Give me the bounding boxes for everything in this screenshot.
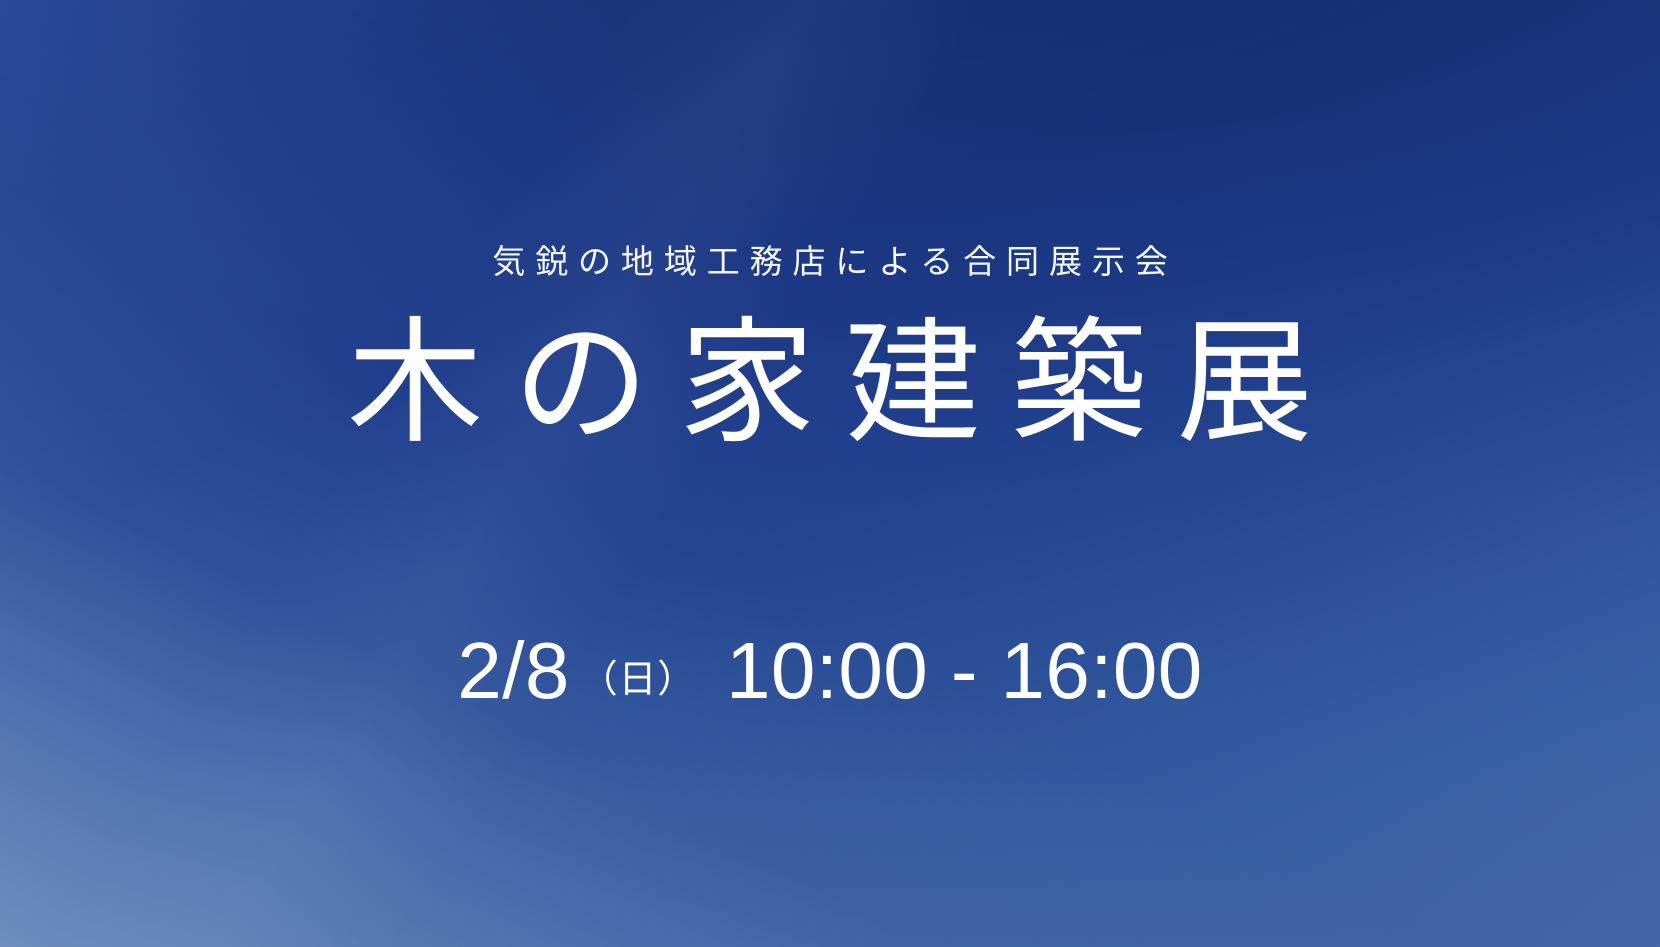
- event-poster: 気鋭の地域工務店による合同展示会 木の家建築展 2/8 （日） 10:00 - …: [0, 0, 1660, 947]
- schedule-weekday: （日）: [580, 648, 696, 703]
- schedule-time: 10:00 - 16:00: [726, 625, 1203, 717]
- poster-title: 木の家建築展: [317, 309, 1342, 461]
- poster-content: 気鋭の地域工務店による合同展示会 木の家建築展 2/8 （日） 10:00 - …: [0, 0, 1660, 947]
- schedule-date: 2/8: [457, 625, 569, 717]
- poster-schedule: 2/8 （日） 10:00 - 16:00: [457, 625, 1202, 717]
- poster-subtitle: 気鋭の地域工務店による合同展示会: [482, 241, 1177, 282]
